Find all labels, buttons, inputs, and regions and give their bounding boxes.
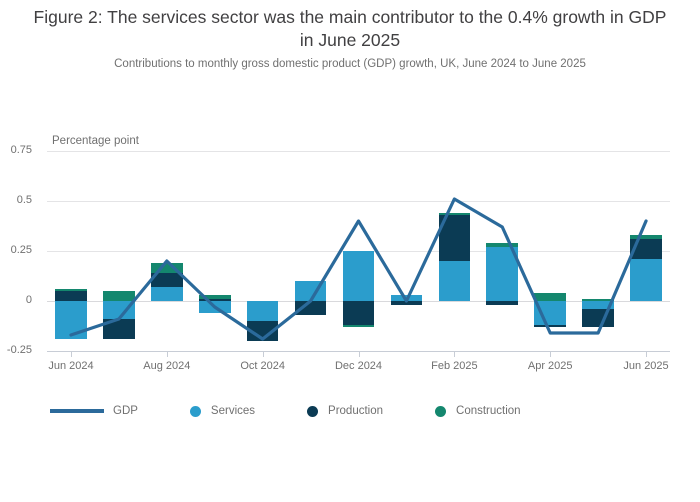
x-axis-tick	[550, 351, 551, 357]
plot-area: 0.750.50.250-0.25	[47, 151, 670, 351]
bar-segment-production[interactable]	[439, 215, 471, 261]
chart-subtitle: Contributions to monthly gross domestic …	[30, 57, 670, 72]
bar-segment-services[interactable]	[486, 247, 518, 301]
x-axis-tick	[167, 351, 168, 357]
y-axis-tick-label: 0.75	[0, 144, 32, 156]
bar-segment-construction[interactable]	[103, 291, 135, 301]
bar-segment-construction[interactable]	[55, 289, 87, 291]
y-axis-tick-label: 0.5	[0, 194, 32, 206]
bar-segment-services[interactable]	[630, 259, 662, 301]
bar-segment-services[interactable]	[151, 287, 183, 301]
bar-segment-production[interactable]	[534, 325, 566, 327]
x-axis-tick-label: Jun 2025	[623, 360, 668, 372]
legend-dot-marker-icon	[190, 406, 201, 417]
bar-segment-production[interactable]	[343, 301, 375, 325]
x-axis-tick-label: Oct 2024	[240, 360, 285, 372]
gridline	[47, 201, 670, 202]
legend-dot-marker-icon	[435, 406, 446, 417]
bar-segment-construction[interactable]	[582, 299, 614, 301]
legend-label: Construction	[456, 405, 521, 417]
bar-segment-construction[interactable]	[199, 295, 231, 299]
bar-segment-construction[interactable]	[439, 213, 471, 215]
bar-segment-services[interactable]	[199, 301, 231, 313]
legend-line-marker-icon	[50, 409, 104, 413]
x-axis-tick-label: Aug 2024	[143, 360, 190, 372]
bar-segment-production[interactable]	[486, 301, 518, 305]
x-axis-tick-label: Jun 2024	[48, 360, 93, 372]
bar-segment-production[interactable]	[391, 301, 423, 305]
y-axis-tick-label: 0	[0, 294, 32, 306]
bar-segment-production[interactable]	[55, 291, 87, 301]
legend-item-production[interactable]: Production	[307, 405, 383, 417]
bar-segment-production[interactable]	[199, 299, 231, 301]
x-axis-tick	[71, 351, 72, 357]
legend-dot-marker-icon	[307, 406, 318, 417]
legend-item-construction[interactable]: Construction	[435, 405, 521, 417]
bar-segment-construction[interactable]	[151, 263, 183, 273]
bar-segment-services[interactable]	[55, 301, 87, 339]
legend-label: GDP	[113, 405, 138, 417]
x-axis-tick-label: Feb 2025	[431, 360, 477, 372]
gridline	[47, 151, 670, 152]
y-axis-tick-label: 0.25	[0, 244, 32, 256]
x-axis-tick	[263, 351, 264, 357]
bar-segment-production[interactable]	[103, 319, 135, 339]
bar-segment-construction[interactable]	[486, 243, 518, 247]
bar-segment-construction[interactable]	[534, 293, 566, 301]
bar-segment-services[interactable]	[439, 261, 471, 301]
bar-segment-construction[interactable]	[630, 235, 662, 239]
chart-legend: GDPServicesProductionConstruction	[50, 405, 521, 417]
legend-label: Production	[328, 405, 383, 417]
y-axis-tick-label: -0.25	[0, 344, 32, 356]
x-axis-tick-label: Dec 2024	[335, 360, 382, 372]
bar-segment-production[interactable]	[295, 301, 327, 315]
bar-segment-services[interactable]	[295, 281, 327, 301]
bar-segment-production[interactable]	[582, 309, 614, 327]
bar-segment-services[interactable]	[343, 251, 375, 301]
legend-label: Services	[211, 405, 255, 417]
bar-segment-services[interactable]	[582, 301, 614, 309]
x-axis-tick	[646, 351, 647, 357]
page-title: Figure 2: The services sector was the ma…	[30, 6, 670, 52]
y-axis-unit-label: Percentage point	[52, 135, 139, 147]
legend-item-services[interactable]: Services	[190, 405, 255, 417]
bar-segment-services[interactable]	[103, 301, 135, 319]
bar-segment-production[interactable]	[247, 321, 279, 341]
x-axis-tick	[359, 351, 360, 357]
legend-item-gdp[interactable]: GDP	[50, 405, 138, 417]
x-axis-tick	[454, 351, 455, 357]
bar-segment-production[interactable]	[630, 239, 662, 259]
bar-segment-production[interactable]	[151, 273, 183, 287]
figure-container: Figure 2: The services sector was the ma…	[0, 0, 700, 502]
bar-segment-construction[interactable]	[343, 325, 375, 327]
bar-segment-services[interactable]	[534, 301, 566, 325]
x-axis-tick-label: Apr 2025	[528, 360, 573, 372]
bar-segment-services[interactable]	[247, 301, 279, 321]
